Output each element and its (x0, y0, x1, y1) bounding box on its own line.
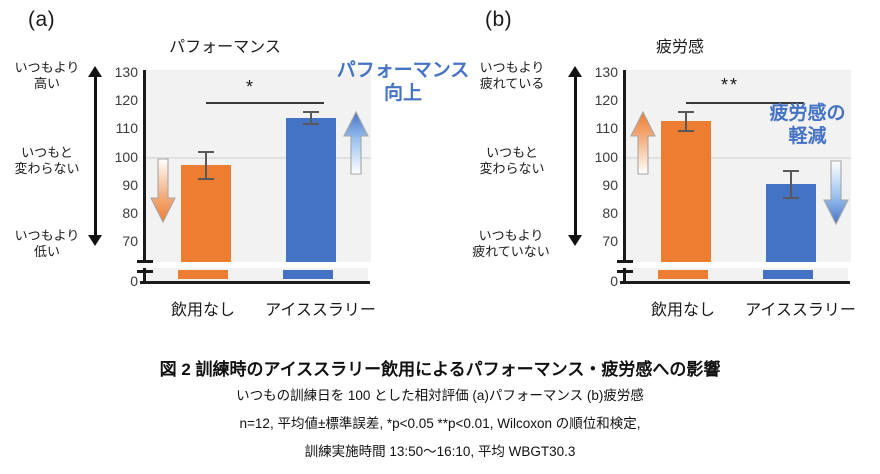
ytick-110: 110 (104, 121, 138, 135)
reference-line-100 (626, 157, 851, 159)
ytick-0: 0 (584, 274, 618, 288)
scale-label-bottom-line2: 疲れていない (456, 244, 566, 260)
scale-label-top-line2: 疲れている (462, 76, 562, 92)
zero-band-b (623, 268, 848, 282)
axis-break-lower-a (137, 270, 153, 273)
annotation-blue-b-line1: 疲労感の (745, 103, 870, 126)
ytick-70: 70 (584, 234, 618, 248)
scale-double-arrow-icon (88, 66, 102, 246)
errorbar-blue-b-cap-bottom (783, 197, 799, 199)
scale-label-bottom: いつもより 疲れていない (456, 228, 566, 261)
bar-orange-b (661, 121, 711, 262)
plot-area-b: ** (623, 70, 851, 262)
scale-label-top-line2: 高い (8, 76, 86, 92)
scale-label-mid: いつもと 変わらない (462, 145, 562, 178)
panel-a-tag: (a) (28, 8, 55, 32)
errorbar-orange-b (685, 111, 687, 132)
errorbar-blue-b-cap-top (783, 170, 799, 172)
scale-label-bottom-line1: いつもより (8, 228, 86, 244)
panel-a-title: パフォーマンス (140, 33, 310, 57)
errorbar-orange-b-cap-top (678, 111, 694, 113)
scale-label-top-line1: いつもより (8, 60, 86, 76)
figure-root: (a) パフォーマンス いつもより 高い いつもと 変わらない いつもより 低い… (0, 0, 880, 474)
scale-label-mid-line1: いつもと (462, 145, 562, 161)
caption-line-1: 図 2 訓練時のアイススラリー飲用によるパフォーマンス・疲労感への影響 (0, 355, 880, 380)
xlabel-b-1: 飲用なし (628, 296, 738, 320)
ytick-80: 80 (104, 206, 138, 220)
ytick-0: 0 (104, 274, 138, 288)
bar-blue-a (286, 118, 336, 262)
errorbar-orange-b-cap-bottom (678, 130, 694, 132)
ytick-130: 130 (584, 65, 618, 79)
xlabel-a-2: アイススラリー (253, 296, 388, 320)
scale-label-mid-line1: いつもと (8, 145, 86, 161)
bar-stub-orange-b (658, 270, 708, 279)
panel-b-title: 疲労感 (620, 33, 740, 57)
scale-label-top: いつもより 疲れている (462, 60, 562, 93)
annotation-blue-b-line2: 軽減 (745, 126, 870, 149)
xlabel-a-1: 飲用なし (148, 296, 258, 320)
significance-label: * (246, 78, 255, 96)
ytick-120: 120 (584, 93, 618, 107)
zero-band-a (143, 268, 368, 282)
caption-line-2: いつもの訓練日を 100 とした相対評価 (a)パフォーマンス (b)疲労感 (0, 384, 880, 404)
scale-label-top-line1: いつもより (462, 60, 562, 76)
errorbar-blue-a-cap-bottom (303, 123, 319, 125)
bar-stub-orange-a (178, 270, 228, 279)
errorbar-orange-a (205, 151, 207, 180)
scale-label-mid: いつもと 変わらない (8, 145, 86, 178)
scale-label-bottom-line2: 低い (8, 244, 86, 260)
axis-break-upper-a (137, 260, 153, 263)
ytick-130: 130 (104, 65, 138, 79)
caption-line-3: n=12, 平均値±標準誤差, *p<0.05 **p<0.01, Wilcox… (0, 412, 880, 432)
axis-break-lower-b (617, 270, 633, 273)
down-arrow-blue-icon (822, 160, 850, 226)
reference-line-100 (146, 157, 371, 159)
ytick-120: 120 (104, 93, 138, 107)
bar-stub-blue-b (763, 270, 813, 279)
annotation-blue-b: 疲労感の 軽減 (745, 103, 870, 149)
errorbar-blue-a-cap-top (303, 111, 319, 113)
ytick-90: 90 (584, 178, 618, 192)
ytick-100: 100 (584, 150, 618, 164)
scale-label-bottom-line1: いつもより (456, 228, 566, 244)
panel-b-tag: (b) (485, 8, 512, 32)
axis-break-upper-b (617, 260, 633, 263)
errorbar-blue-b (790, 170, 792, 199)
panel-a: (a) パフォーマンス いつもより 高い いつもと 変わらない いつもより 低い… (0, 0, 440, 330)
xaxis-b (620, 281, 850, 284)
ytick-80: 80 (584, 206, 618, 220)
up-arrow-blue-icon (342, 110, 370, 176)
scale-label-top: いつもより 高い (8, 60, 86, 93)
ytick-70: 70 (104, 234, 138, 248)
ytick-90: 90 (104, 178, 138, 192)
scale-label-bottom: いつもより 低い (8, 228, 86, 261)
scale-label-mid-line2: 変わらない (8, 161, 86, 177)
down-arrow-orange-icon (149, 158, 177, 224)
errorbar-orange-a-cap-bottom (198, 178, 214, 180)
errorbar-orange-a-cap-top (198, 151, 214, 153)
bar-stub-blue-a (283, 270, 333, 279)
ytick-110: 110 (584, 121, 618, 135)
up-arrow-orange-icon (629, 110, 657, 176)
xlabel-b-2: アイススラリー (733, 296, 868, 320)
significance-label: ** (721, 76, 739, 94)
xaxis-a (140, 281, 370, 284)
significance-line (206, 102, 324, 104)
ytick-100: 100 (104, 150, 138, 164)
scale-label-mid-line2: 変わらない (462, 161, 562, 177)
scale-double-arrow-icon (568, 66, 582, 246)
panel-b: (b) 疲労感 いつもより 疲れている いつもと 変わらない いつもより 疲れて… (440, 0, 880, 330)
caption-line-4: 訓練実施時間 13:50〜16:10, 平均 WBGT30.3 (0, 440, 880, 460)
